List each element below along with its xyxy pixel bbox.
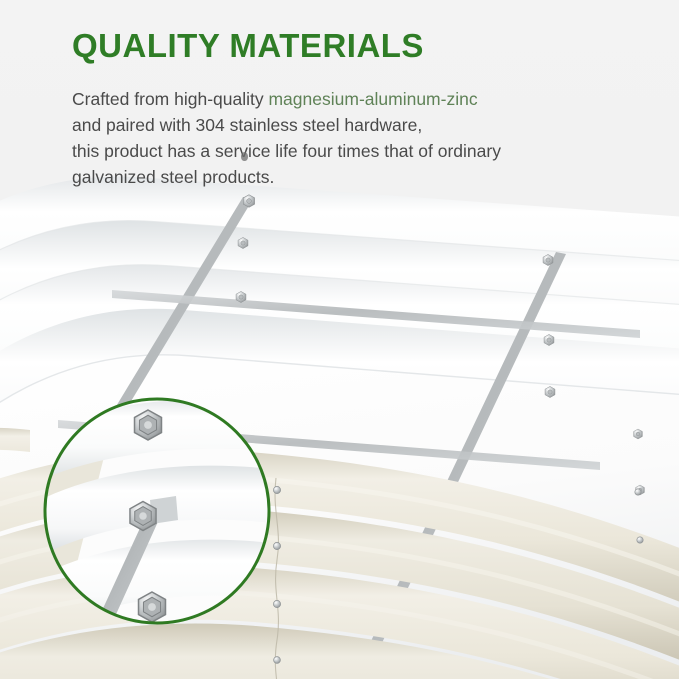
body-text-accent: magnesium-aluminum-zinc bbox=[268, 89, 477, 109]
copy-block: QUALITY MATERIALS Crafted from high-qual… bbox=[72, 28, 632, 190]
body-line-1: Crafted from high-quality magnesium-alum… bbox=[72, 86, 632, 112]
magnified-hex-bolt bbox=[135, 410, 162, 440]
hex-bolt bbox=[236, 291, 246, 302]
mouse-cursor-artifact bbox=[241, 152, 248, 161]
body-line-2: and paired with 304 stainless steel hard… bbox=[72, 112, 632, 138]
hex-bolt bbox=[238, 237, 248, 248]
hex-bolt bbox=[273, 486, 280, 493]
hex-bolt bbox=[634, 429, 643, 439]
hex-bolt bbox=[543, 254, 553, 265]
hex-bolt bbox=[273, 542, 280, 549]
hex-bolt bbox=[545, 386, 555, 397]
hex-bolt bbox=[637, 537, 643, 543]
product-feature-image: QUALITY MATERIALS Crafted from high-qual… bbox=[0, 0, 679, 679]
hex-bolt bbox=[273, 600, 280, 607]
body-line-3: this product has a service life four tim… bbox=[72, 138, 632, 164]
hex-bolt bbox=[274, 657, 281, 664]
magnified-hex-bolt bbox=[139, 592, 166, 622]
page-title: QUALITY MATERIALS bbox=[72, 28, 632, 64]
hex-bolt bbox=[243, 195, 254, 208]
body-text-normal: Crafted from high-quality bbox=[72, 89, 268, 109]
magnified-hex-bolt bbox=[130, 502, 156, 531]
hex-bolt bbox=[635, 489, 641, 495]
hex-bolt bbox=[544, 334, 554, 345]
body-line-4: galvanized steel products. bbox=[72, 164, 632, 190]
